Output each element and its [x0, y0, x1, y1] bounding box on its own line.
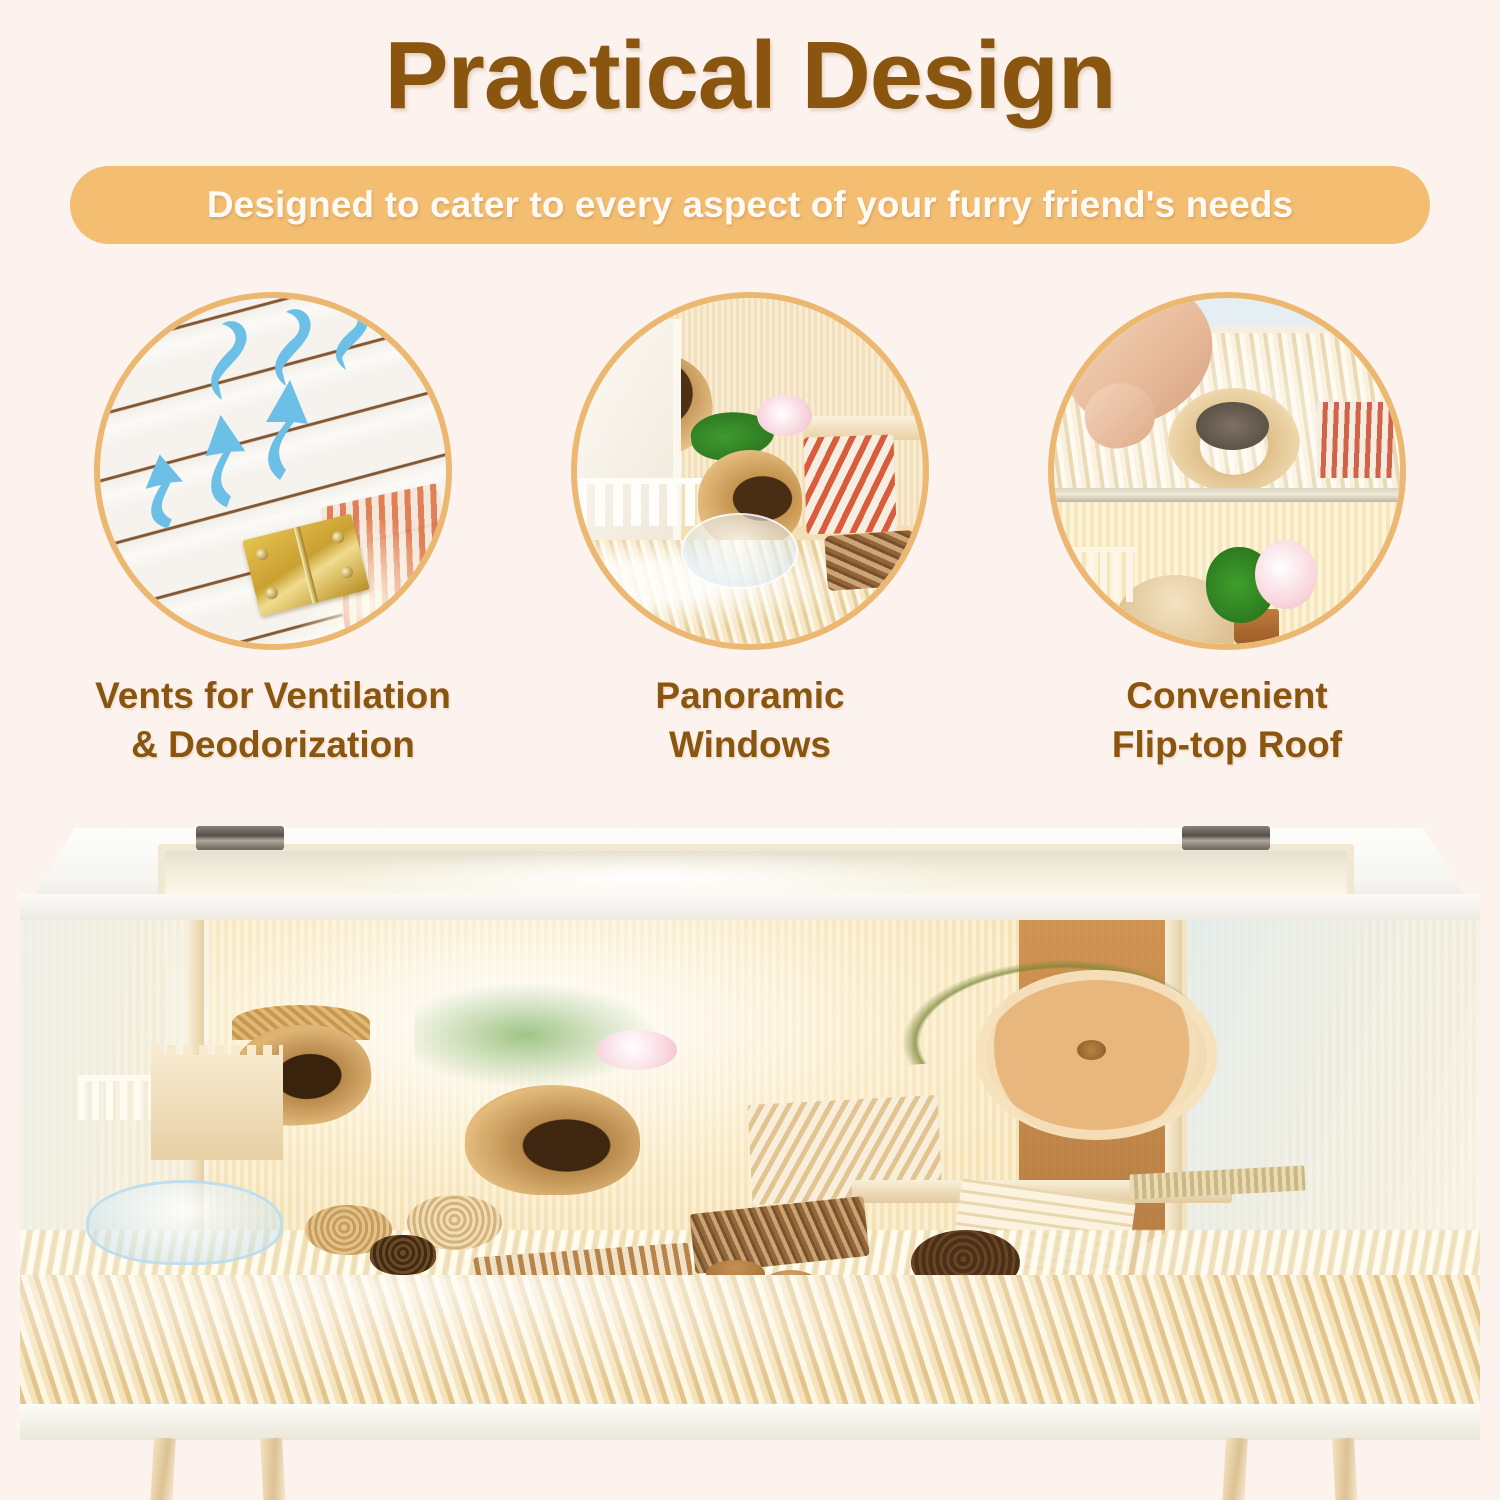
- caption-line-2: Flip-top Roof: [1046, 721, 1408, 770]
- airflow-arrow-icon: [322, 300, 374, 372]
- lid-edge: [1054, 488, 1400, 502]
- cage-leg: [1332, 1437, 1358, 1500]
- cage-leg: [150, 1437, 176, 1500]
- picket-fence-icon: [1061, 547, 1137, 602]
- bedding: [20, 1275, 1480, 1420]
- caption-line-2: Windows: [569, 721, 931, 770]
- feature-panoramic-windows: Panoramic Windows: [569, 292, 931, 770]
- striped-ladder-icon: [1317, 402, 1393, 478]
- feature-ventilation: Vents for Ventilation & Deodorization: [92, 292, 454, 770]
- woven-tunnel-icon: [465, 1085, 640, 1195]
- glass-bowl-icon: [681, 513, 799, 589]
- feature-image-panoramic-windows: [571, 292, 929, 650]
- airflow-arrow-icon: [246, 372, 312, 482]
- airflow-arrow-icon: [196, 310, 252, 402]
- nest-opening: [1196, 402, 1269, 450]
- feature-image-flip-top-roof: [1048, 292, 1406, 650]
- airflow-arrow-icon: [260, 302, 316, 388]
- hero-product-image: [0, 808, 1500, 1500]
- cage-leg: [1222, 1437, 1248, 1500]
- subtitle-text: Designed to cater to every aspect of you…: [207, 184, 1293, 226]
- pine-cone-icon: [370, 1235, 436, 1275]
- hinge-icon: [1182, 826, 1270, 850]
- page-title: Practical Design: [0, 18, 1500, 133]
- wheel-hub-icon: [1077, 1040, 1106, 1060]
- glass-dome-house-icon: [86, 1180, 283, 1265]
- castle-toy-icon: [151, 1055, 282, 1160]
- cage-body: [20, 920, 1480, 1420]
- wood-sticks-icon: [824, 530, 918, 591]
- ladder-icon: [804, 435, 897, 535]
- airflow-arrow-icon: [186, 406, 250, 510]
- subtitle-pill: Designed to cater to every aspect of you…: [70, 166, 1430, 244]
- cage-leg: [260, 1437, 286, 1500]
- feature-row: Vents for Ventilation & Deodorization: [0, 292, 1500, 782]
- infographic-page: Practical Design Designed to cater to ev…: [0, 0, 1500, 1500]
- feature-image-ventilation: [94, 292, 452, 650]
- airflow-arrow-icon: [128, 446, 186, 532]
- feature-flip-top-roof: Convenient Flip-top Roof: [1046, 292, 1408, 770]
- caption-line-1: Panoramic: [569, 672, 931, 721]
- cage-base-rail: [20, 1404, 1480, 1440]
- hinge-icon: [196, 826, 284, 850]
- flower-icon: [1255, 540, 1317, 609]
- caption-line-1: Convenient: [1046, 672, 1408, 721]
- feature-caption-ventilation: Vents for Ventilation & Deodorization: [92, 672, 454, 770]
- flower-icon: [597, 1030, 677, 1070]
- caption-line-2: & Deodorization: [92, 721, 454, 770]
- feature-caption-panoramic-windows: Panoramic Windows: [569, 672, 931, 770]
- feature-caption-flip-top-roof: Convenient Flip-top Roof: [1046, 672, 1408, 770]
- caption-line-1: Vents for Ventilation: [92, 672, 454, 721]
